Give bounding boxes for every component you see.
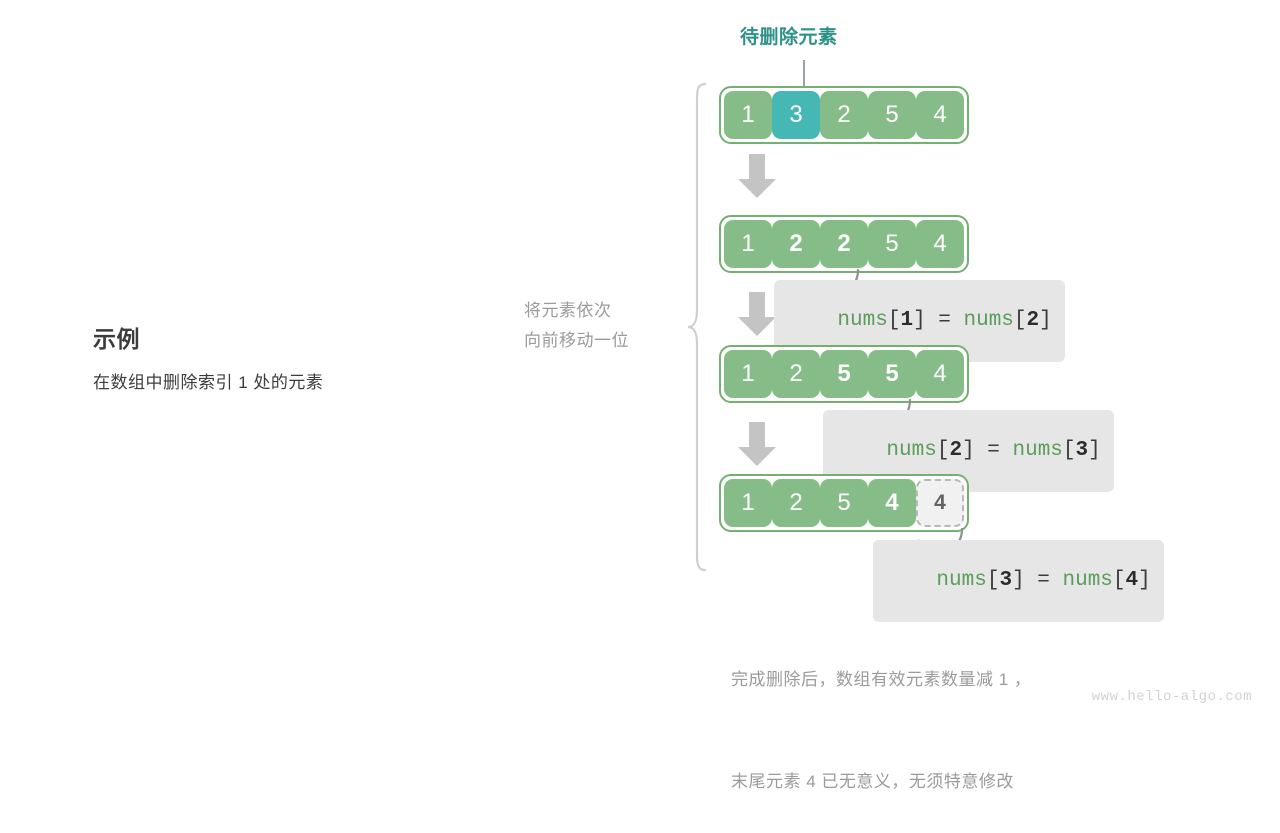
array-cell-source: 2 <box>820 220 868 268</box>
array-cell-updated: 5 <box>820 350 868 398</box>
page-title: 示例 <box>93 320 473 354</box>
example-description: 在数组中删除索引 1 处的元素 <box>93 368 473 393</box>
code-rhs-name: nums <box>1013 439 1063 462</box>
code-operator: = <box>987 439 1000 462</box>
watermark: www.hello-algo.com <box>1092 689 1252 705</box>
delete-target-label: 待删除元素 <box>740 22 990 49</box>
array-cell: 4 <box>916 91 964 139</box>
code-rhs-name: nums <box>1063 569 1113 592</box>
array-cell: 4 <box>916 220 964 268</box>
array-cell-updated: 4 <box>868 479 916 527</box>
table-row: 1 2 5 5 4 <box>719 345 969 403</box>
array-cell-obsolete: 4 <box>916 479 964 527</box>
code-operator: = <box>938 309 951 332</box>
array-cell: 2 <box>772 479 820 527</box>
result-caption: 完成删除后，数组有效元素数量减 1 ， 末尾元素 4 已无意义，无须特意修改 <box>731 595 1251 833</box>
array-cell-updated: 2 <box>772 220 820 268</box>
code-lhs-name: nums <box>886 439 936 462</box>
array-cell: 5 <box>868 91 916 139</box>
array-cell-highlighted: 3 <box>772 91 820 139</box>
code-operator: = <box>1037 569 1050 592</box>
result-caption-line-2: 末尾元素 4 已无意义，无须特意修改 <box>731 765 1251 799</box>
array-cell-source: 5 <box>868 350 916 398</box>
table-row: 1 2 2 5 4 <box>719 215 969 273</box>
code-lhs-index: 1 <box>900 309 913 332</box>
example-panel: 示例 在数组中删除索引 1 处的元素 <box>93 320 473 393</box>
array-cell: 4 <box>916 350 964 398</box>
array-cell: 1 <box>724 479 772 527</box>
array-cell: 1 <box>724 91 772 139</box>
down-arrow-icon <box>736 290 778 338</box>
array-cell: 2 <box>820 91 868 139</box>
code-lhs-name: nums <box>837 309 887 332</box>
shift-annotation-line-1: 将元素依次 <box>524 296 674 326</box>
code-lhs-index: 3 <box>999 569 1012 592</box>
code-rhs-index: 2 <box>1027 309 1040 332</box>
curly-brace-icon <box>686 82 708 572</box>
array-cell: 1 <box>724 350 772 398</box>
down-arrow-icon <box>736 152 778 200</box>
array-cell: 2 <box>772 350 820 398</box>
code-rhs-name: nums <box>964 309 1014 332</box>
down-arrow-icon <box>736 420 778 468</box>
table-row: 1 2 5 4 4 <box>719 474 969 532</box>
code-rhs-index: 3 <box>1076 439 1089 462</box>
table-row: 1 3 2 5 4 <box>719 86 969 144</box>
code-rhs-index: 4 <box>1126 569 1139 592</box>
code-lhs-index: 2 <box>949 439 962 462</box>
array-cell: 5 <box>820 479 868 527</box>
array-cell: 5 <box>868 220 916 268</box>
shift-annotation-line-2: 向前移动一位 <box>524 326 674 356</box>
array-cell: 1 <box>724 220 772 268</box>
shift-annotation: 将元素依次 向前移动一位 <box>524 296 674 356</box>
code-lhs-name: nums <box>936 569 986 592</box>
